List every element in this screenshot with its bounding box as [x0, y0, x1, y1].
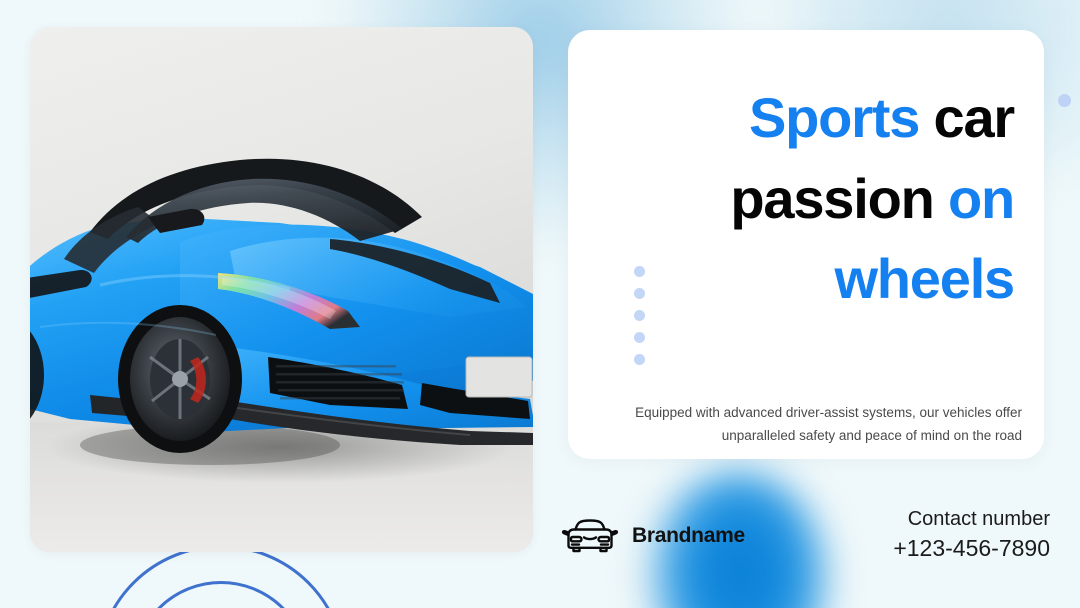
headline-line-3: wheels: [614, 239, 1014, 320]
dot-5: [634, 354, 645, 365]
car-photo-card: [30, 27, 533, 552]
body-paragraph: Equipped with advanced driver-assist sys…: [622, 401, 1022, 447]
poster-stage: Sports car passion on wheels Equipped wi…: [0, 0, 1080, 608]
headline-line-3-blue: wheels: [834, 247, 1014, 310]
contact-number[interactable]: +123-456-7890: [893, 533, 1050, 564]
headline-line-1-dark: car: [934, 86, 1014, 149]
headline-line-2: passion on: [614, 159, 1014, 240]
dot-column-decoration: [634, 266, 645, 365]
dot-1: [634, 266, 645, 277]
headline-line-2-blue: on: [948, 167, 1014, 230]
contact-label: Contact number: [893, 506, 1050, 533]
dot-4: [634, 332, 645, 343]
brand-lockup: Brandname: [560, 515, 745, 557]
car-photo-image: [30, 27, 533, 552]
dot-2: [634, 288, 645, 299]
contact-block: Contact number +123-456-7890: [893, 506, 1050, 564]
brand-name-label: Brandname: [632, 524, 745, 548]
car-front-icon: [560, 515, 620, 557]
headline-line-1-blue: Sports: [749, 86, 934, 149]
headline-line-1: Sports car: [614, 78, 1014, 159]
page-title: Sports car passion on wheels: [614, 78, 1014, 320]
headline-card: Sports car passion on wheels Equipped wi…: [568, 30, 1044, 459]
dot-3: [634, 310, 645, 321]
headline-line-2-dark: passion: [730, 167, 948, 230]
